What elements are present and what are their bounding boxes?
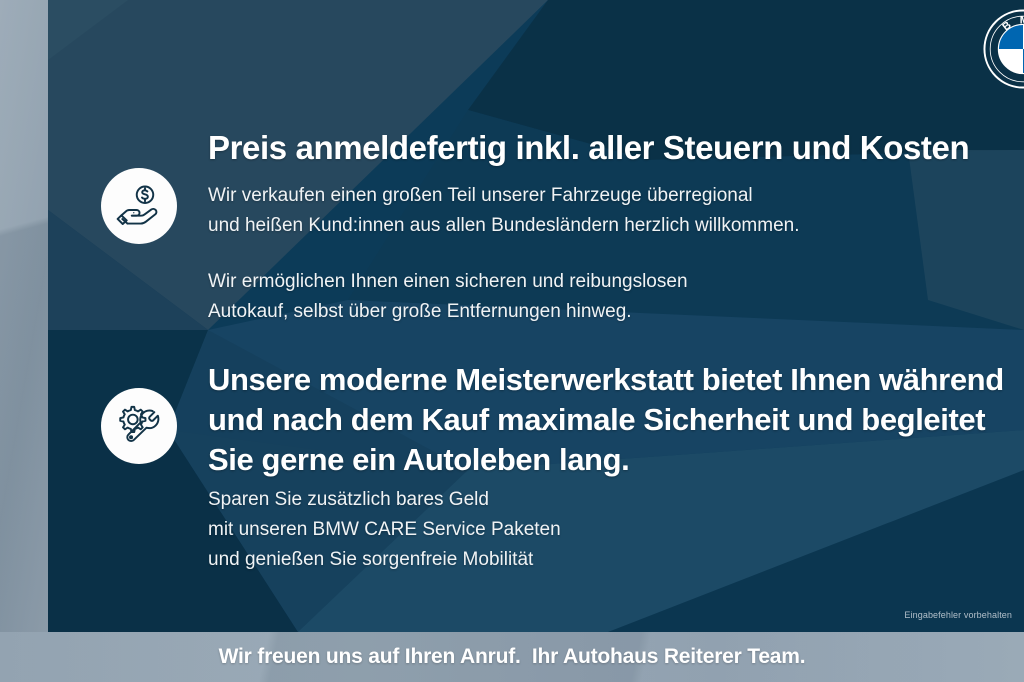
- left-silver-band-facet: [0, 0, 48, 682]
- headline-price: Preis anmeldefertig inkl. aller Steuern …: [208, 128, 969, 168]
- body-paragraph-care-packages: Sparen Sie zusätzlich bares Geld mit uns…: [208, 485, 561, 575]
- body-paragraph-nationwide: Wir verkaufen einen großen Teil unserer …: [208, 181, 799, 241]
- gear-wrench-icon: [101, 388, 177, 464]
- headline-workshop: Unsere moderne Meisterwerkstatt bietet I…: [208, 360, 1008, 480]
- body-paragraph-safe-purchase: Wir ermöglichen Ihnen einen sicheren und…: [208, 267, 688, 327]
- banner-canvas: B M W Eingabefehler vorbehalten: [0, 0, 1024, 682]
- disclaimer-text: Eingabefehler vorbehalten: [904, 610, 1012, 620]
- hand-holding-coin-icon: [101, 168, 177, 244]
- bmw-roundel-logo: B M W: [982, 8, 1024, 90]
- footer-message: Wir freuen uns auf Ihren Anruf. Ihr Auto…: [0, 632, 1024, 682]
- bmw-letter-m: M: [1020, 15, 1024, 27]
